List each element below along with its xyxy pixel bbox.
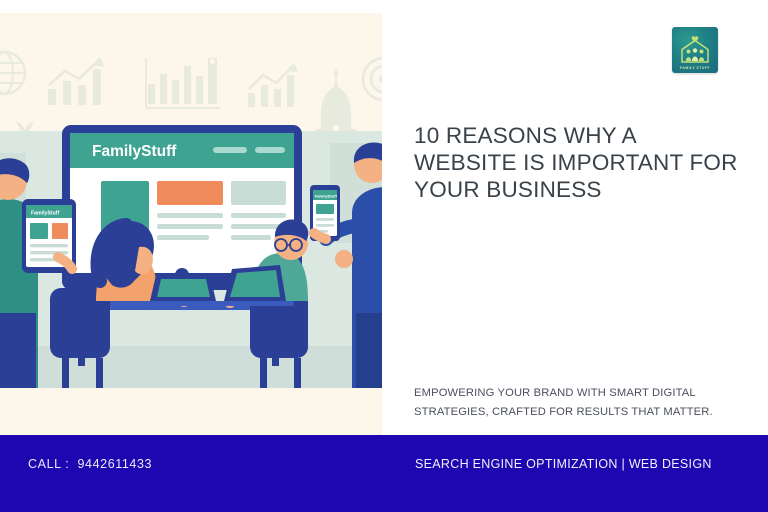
footer-bar: CALL : 9442611433 SEARCH ENGINE OPTIMIZA…	[0, 435, 768, 512]
house-family-icon	[676, 31, 714, 69]
illustration-panel: FamilyStuff	[0, 13, 382, 435]
call-phone-number[interactable]: CALL : 9442611433	[28, 457, 152, 471]
tagline-line-2: STRATEGIES, CRAFTED FOR RESULTS THAT MAT…	[414, 403, 766, 422]
content-panel: FAMILY STUFF 10 REASONS WHY A WEBSITE IS…	[382, 0, 768, 435]
page-title: 10 REASONS WHY A WEBSITE IS IMPORTANT FO…	[414, 122, 744, 203]
svg-text:FamilyStuff: FamilyStuff	[92, 143, 177, 160]
family-stuff-logo[interactable]: FAMILY STUFF	[672, 27, 718, 73]
svg-text:FamilyStuff: FamilyStuff	[31, 211, 60, 217]
business-team-illustration: FamilyStuff	[0, 13, 382, 388]
marketing-banner: FamilyStuff	[0, 0, 768, 512]
laptop-left	[146, 275, 220, 306]
tagline-line-1: EMPOWERING YOUR BRAND WITH SMART DIGITAL	[414, 387, 696, 399]
tagline: EMPOWERING YOUR BRAND WITH SMART DIGITAL…	[414, 384, 766, 422]
svg-text:FamilyStuff: FamilyStuff	[315, 193, 337, 198]
services-list: SEARCH ENGINE OPTIMIZATION | WEB DESIGN	[415, 457, 712, 471]
logo-caption: FAMILY STUFF	[672, 66, 718, 70]
